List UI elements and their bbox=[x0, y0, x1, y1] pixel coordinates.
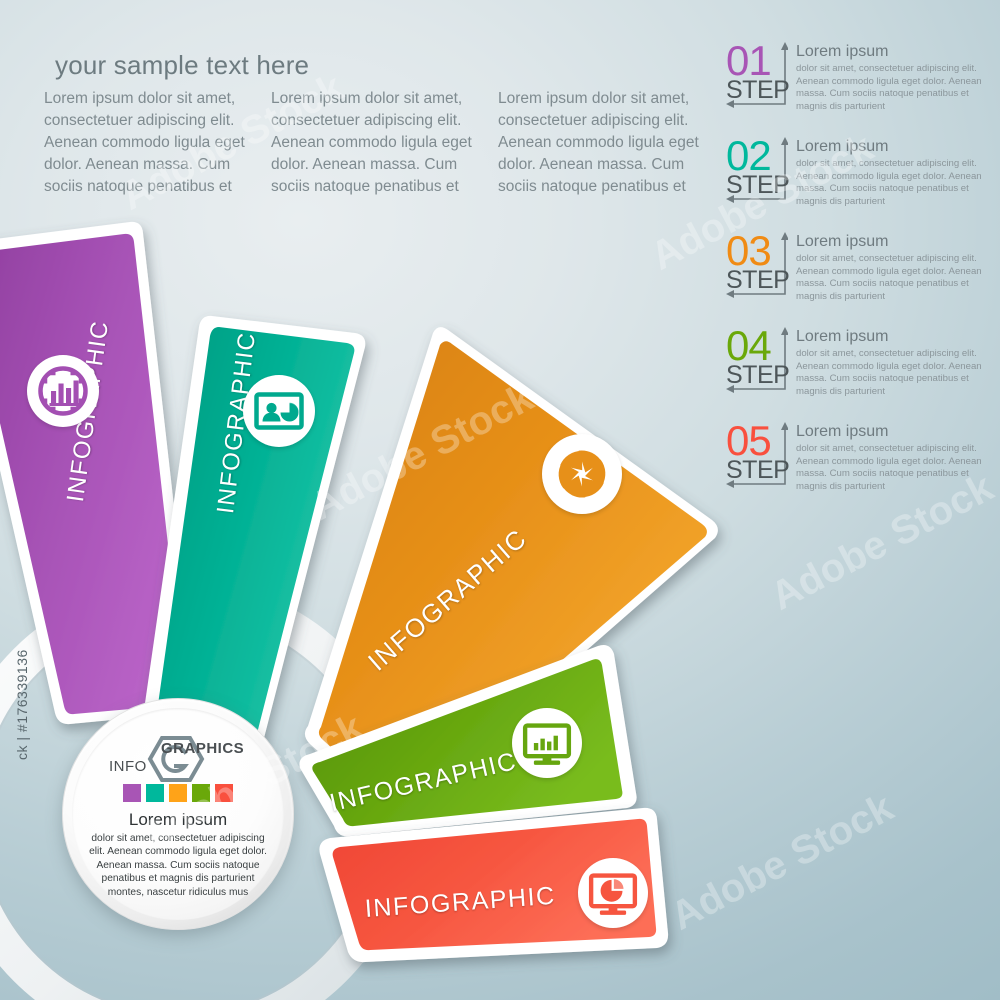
stock-id-label: ck | #176339136 bbox=[14, 649, 30, 760]
step-marker-04: 04 STEP bbox=[726, 329, 788, 401]
color-swatches bbox=[123, 784, 233, 802]
step-word-05: STEP bbox=[726, 458, 789, 483]
step-content-02: Lorem ipsum dolor sit amet, consectetuer… bbox=[788, 139, 988, 211]
infographic-canvas: INFOGRAPHIC INFOGRAPHIC INFOGRAPHIC INFO… bbox=[0, 0, 1000, 1000]
bar-chart-circle-icon bbox=[27, 355, 99, 427]
header-column-2: Lorem ipsum dolor sit amet, consectetuer… bbox=[271, 88, 476, 198]
step-body-03: dolor sit amet, consectetuer adipiscing … bbox=[796, 253, 988, 304]
swatch-3 bbox=[169, 784, 187, 802]
camera-aperture-icon bbox=[542, 434, 622, 514]
step-marker-03: 03 STEP bbox=[726, 234, 788, 306]
step-heading-05: Lorem ipsum bbox=[796, 424, 988, 441]
step-heading-01: Lorem ipsum bbox=[796, 44, 988, 61]
step-content-01: Lorem ipsum dolor sit amet, consectetuer… bbox=[788, 44, 988, 116]
header-column-3: Lorem ipsum dolor sit amet, consectetuer… bbox=[498, 88, 703, 198]
monitor-bar-chart-icon bbox=[512, 708, 582, 778]
center-body: dolor sit amet, consectetuer adipiscing … bbox=[87, 832, 269, 899]
presentation-chart-icon bbox=[243, 375, 315, 447]
swatch-4 bbox=[192, 784, 210, 802]
monitor-pie-chart-icon bbox=[578, 858, 648, 928]
step-body-02: dolor sit amet, consectetuer adipiscing … bbox=[796, 158, 988, 209]
center-disc[interactable]: INFO GRAPHICS Lorem ipsum dolor sit amet… bbox=[62, 698, 294, 930]
center-disc-inner: INFO GRAPHICS Lorem ipsum dolor sit amet… bbox=[72, 708, 284, 920]
logo-graphics-text: GRAPHICS bbox=[161, 740, 244, 757]
swatch-2 bbox=[146, 784, 164, 802]
step-heading-03: Lorem ipsum bbox=[796, 234, 988, 251]
steps-list: 01 STEP Lorem ipsum dolor sit amet, cons… bbox=[726, 44, 988, 519]
step-heading-02: Lorem ipsum bbox=[796, 139, 988, 156]
step-body-05: dolor sit amet, consectetuer adipiscing … bbox=[796, 443, 988, 494]
center-heading: Lorem ipsum bbox=[129, 810, 227, 830]
step-item-04[interactable]: 04 STEP Lorem ipsum dolor sit amet, cons… bbox=[726, 329, 988, 401]
step-item-03[interactable]: 03 STEP Lorem ipsum dolor sit amet, cons… bbox=[726, 234, 988, 306]
step-marker-05: 05 STEP bbox=[726, 424, 788, 496]
brand-logo: INFO GRAPHICS bbox=[103, 736, 253, 782]
step-item-05[interactable]: 05 STEP Lorem ipsum dolor sit amet, cons… bbox=[726, 424, 988, 496]
page-title: your sample text here bbox=[55, 50, 309, 81]
step-marker-01: 01 STEP bbox=[726, 44, 788, 116]
header-columns: Lorem ipsum dolor sit amet, consectetuer… bbox=[44, 88, 704, 198]
step-body-01: dolor sit amet, consectetuer adipiscing … bbox=[796, 63, 988, 114]
step-item-02[interactable]: 02 STEP Lorem ipsum dolor sit amet, cons… bbox=[726, 139, 988, 211]
swatch-1 bbox=[123, 784, 141, 802]
header-column-1: Lorem ipsum dolor sit amet, consectetuer… bbox=[44, 88, 249, 198]
step-body-04: dolor sit amet, consectetuer adipiscing … bbox=[796, 348, 988, 399]
swatch-5 bbox=[215, 784, 233, 802]
step-word-04: STEP bbox=[726, 363, 789, 388]
step-word-03: STEP bbox=[726, 268, 789, 293]
step-content-05: Lorem ipsum dolor sit amet, consectetuer… bbox=[788, 424, 988, 496]
step-item-01[interactable]: 01 STEP Lorem ipsum dolor sit amet, cons… bbox=[726, 44, 988, 116]
step-word-01: STEP bbox=[726, 78, 789, 103]
step-heading-04: Lorem ipsum bbox=[796, 329, 988, 346]
step-content-04: Lorem ipsum dolor sit amet, consectetuer… bbox=[788, 329, 988, 401]
step-marker-02: 02 STEP bbox=[726, 139, 788, 211]
logo-info-text: INFO bbox=[109, 758, 147, 775]
step-content-03: Lorem ipsum dolor sit amet, consectetuer… bbox=[788, 234, 988, 306]
step-word-02: STEP bbox=[726, 173, 789, 198]
